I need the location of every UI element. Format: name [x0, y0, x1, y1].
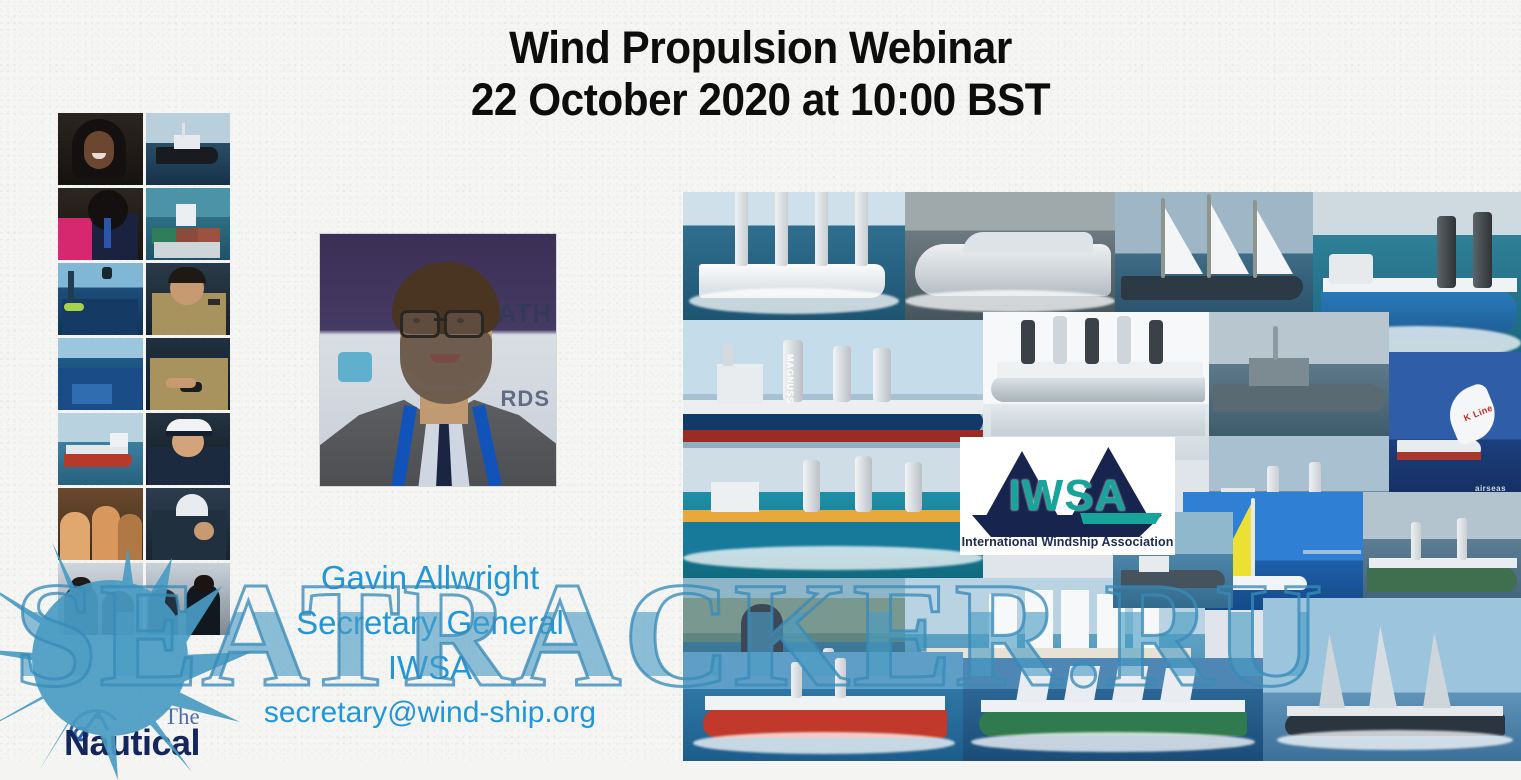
- tile-rigid-sail-superyacht: [1263, 598, 1521, 761]
- photo-crew-training-group: [58, 488, 143, 560]
- tile-schooner-cargo-sail: [1115, 192, 1313, 320]
- speaker-role: Secretary General: [160, 600, 700, 645]
- photo-bridge-console: [58, 263, 143, 335]
- speaker-organisation: IWSA: [160, 645, 700, 690]
- portrait-glasses-left: [400, 310, 440, 338]
- tile-wingsail-cargo: [1363, 492, 1521, 610]
- webinar-slide: Wind Propulsion Webinar 22 October 2020 …: [0, 0, 1521, 761]
- photo-officer-cap-closeup: [146, 488, 231, 560]
- tile-red-hull-rotor-ship: [683, 652, 963, 761]
- iwsa-tagline: International Windship Association: [960, 535, 1175, 549]
- title-line-2: 22 October 2020 at 10:00 BST: [46, 74, 1476, 126]
- backdrop-logo: [338, 352, 372, 382]
- speaker-name: Gavin Allwright: [160, 555, 700, 600]
- backdrop-text-1: ATH: [497, 298, 552, 329]
- tile-rotor-cruise-concept: [683, 192, 905, 320]
- page-title: Wind Propulsion Webinar 22 October 2020 …: [0, 22, 1521, 126]
- tile-naval-grey-vessel: [1209, 312, 1389, 436]
- speaker-portrait: ATH RDS: [320, 234, 556, 486]
- photo-bridge-chart-table: [58, 338, 143, 410]
- portrait-glasses-bridge: [434, 318, 446, 321]
- photo-captain-white-cap: [146, 413, 231, 485]
- tile-magnuss-rotor-bulker: MAGNUSS: [683, 320, 983, 448]
- iwsa-logo: IWSA International Windship Association: [960, 437, 1175, 555]
- photo-officer-writing: [146, 338, 231, 410]
- iwsa-acronym: IWSA: [976, 471, 1160, 521]
- photo-tanker-red-hull: [58, 413, 143, 485]
- photo-container-ship-deck: [146, 188, 231, 260]
- tile-kite-sail-bulker: K Line airseas: [1389, 352, 1521, 508]
- backdrop-text-2: RDS: [501, 386, 550, 412]
- title-line-1: Wind Propulsion Webinar: [46, 22, 1476, 74]
- tile-rotor-tanker-port: [683, 448, 983, 578]
- photo-woman-in-pink-jacket: [58, 188, 143, 260]
- photo-officer-khaki-uniform: [146, 263, 231, 335]
- tile-green-wingsail-tanker: [963, 658, 1263, 761]
- portrait-mouth: [430, 354, 460, 363]
- brand-magnuss: MAGNUSS: [785, 354, 795, 404]
- nautical-institute-logo: The Nautical: [60, 700, 290, 761]
- tile-streamlined-hull-concept: [905, 192, 1115, 320]
- ni-name-word: Nautical: [64, 722, 200, 764]
- portrait-glasses-right: [444, 310, 484, 338]
- photo-classroom-students: [58, 563, 143, 635]
